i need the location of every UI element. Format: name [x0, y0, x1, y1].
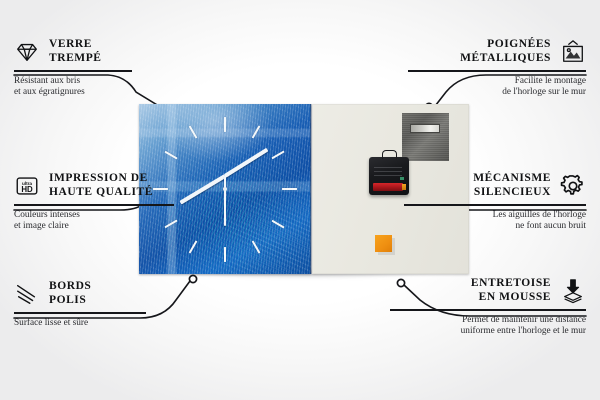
feature-title-line2: HAUTE QUALITÉ	[49, 186, 153, 200]
feature-desc-line2: uniforme entre l'horloge et le mur	[376, 326, 586, 337]
clock-tick	[252, 125, 261, 138]
feature-desc-line2: et aux égratignures	[14, 87, 224, 98]
feature-verre-trempe: VERRE TREMPÉ Résistant aux bris et aux é…	[14, 38, 224, 98]
feature-desc-line1: Couleurs intenses	[14, 210, 224, 221]
clock-tick	[189, 125, 198, 138]
feature-desc-line1: Facilite le montage	[376, 76, 586, 87]
feature-impression-haute-qualite: ultra HD IMPRESSION DE HAUTE QUALITÉ Cou…	[14, 172, 224, 232]
metal-hanger-plate	[402, 113, 449, 161]
foam-spacer-icon	[560, 278, 586, 304]
clock-tick	[224, 247, 226, 262]
hanger-loop	[382, 150, 397, 159]
diamond-icon	[14, 39, 40, 65]
feature-rule	[14, 204, 174, 206]
feature-title-line1: VERRE	[49, 38, 102, 52]
feature-title-line2: EN MOUSSE	[471, 291, 551, 305]
feature-poignees-metalliques: POIGNÉES MÉTALLIQUES Facilite le montage…	[376, 38, 586, 98]
feature-title-line1: IMPRESSION DE	[49, 172, 153, 186]
gear-icon	[560, 173, 586, 199]
clock-tick	[282, 188, 297, 190]
feature-entretoise-en-mousse: ENTRETOISE EN MOUSSE Permet de maintenir…	[376, 277, 586, 337]
feature-title-line2: TREMPÉ	[49, 52, 102, 66]
feature-title-line1: ENTRETOISE	[471, 277, 551, 291]
clock-tick	[271, 220, 284, 229]
feature-bords-polis: BORDS POLIS Surface lisse et sûre	[14, 280, 224, 329]
clock-tick	[224, 117, 226, 132]
feature-title-line2: SILENCIEUX	[473, 186, 551, 200]
feature-rule	[408, 70, 586, 72]
feature-rule	[14, 312, 146, 314]
svg-text:HD: HD	[21, 185, 33, 194]
clock-tick	[189, 240, 198, 253]
feature-desc-line2: de l'horloge sur le mur	[376, 87, 586, 98]
feature-desc-line1: Résistant aux bris	[14, 76, 224, 87]
feature-title-line1: POIGNÉES	[460, 38, 551, 52]
infographic-canvas: VERRE TREMPÉ Résistant aux bris et aux é…	[0, 0, 600, 400]
clock-hand-second	[224, 176, 226, 226]
feature-title-line2: POLIS	[49, 294, 91, 308]
picture-hanger-icon	[560, 39, 586, 65]
feature-desc-line1: Surface lisse et sûre	[14, 318, 224, 329]
feature-desc-line1: Les aiguilles de l'horloge	[376, 210, 586, 221]
feature-title-line1: BORDS	[49, 280, 91, 294]
clock-tick	[252, 240, 261, 253]
feature-desc-line2: et image claire	[14, 221, 224, 232]
polished-edge-icon	[14, 281, 40, 307]
feature-desc-line2: ne font aucun bruit	[376, 221, 586, 232]
feature-rule	[404, 204, 586, 206]
clock-tick	[164, 151, 177, 160]
foam-spacer	[375, 235, 392, 252]
clock-tick	[271, 151, 284, 160]
feature-desc-line1: Permet de maintenir une distance	[376, 315, 586, 326]
clock-hand-minute	[224, 148, 269, 178]
feature-title-line1: MÉCANISME	[473, 172, 551, 186]
feature-mecanisme-silencieux: MÉCANISME SILENCIEUX Les aiguilles de l'…	[376, 172, 586, 232]
feature-title-line2: MÉTALLIQUES	[460, 52, 551, 66]
feature-rule	[390, 309, 586, 311]
ultra-hd-icon: ultra HD	[14, 173, 40, 199]
feature-rule	[14, 70, 132, 72]
